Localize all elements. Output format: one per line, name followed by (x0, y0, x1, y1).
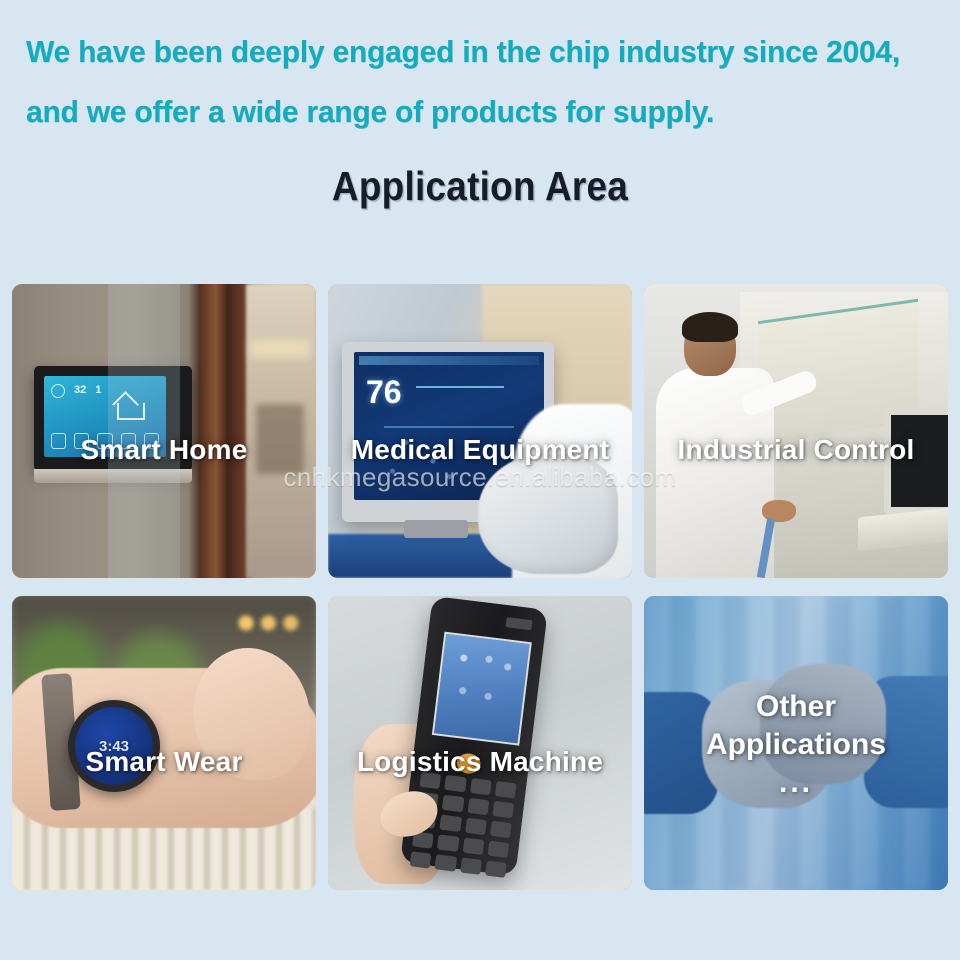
keypad-key (485, 860, 507, 877)
blue-tint-overlay (644, 596, 948, 890)
speaker-grille (506, 617, 533, 630)
headline-block: We have been deeply engaged in the chip … (0, 0, 960, 141)
monitor-status-bar (359, 356, 539, 365)
keypad-key (487, 841, 509, 858)
page-title: Application Area (48, 163, 912, 210)
keypad-key (465, 818, 487, 835)
keypad-key (444, 775, 466, 792)
background-lights (232, 610, 302, 636)
keypad-key (435, 854, 457, 871)
smart-wear-photo: 3:43 (12, 596, 316, 890)
keypad-key (460, 857, 482, 874)
monitor-data-readouts (370, 438, 460, 484)
headline-line-2: and we offer a wide range of products fo… (26, 82, 902, 142)
crt-monitor (884, 408, 948, 514)
keypad-key (462, 838, 484, 855)
background-room (246, 284, 316, 578)
keypad-key (495, 781, 517, 798)
light-icon (51, 433, 66, 449)
fan-icon (74, 433, 89, 449)
smart-home-photo: 32 1 (12, 284, 316, 578)
technician-hair (682, 312, 738, 342)
keypad-key (419, 772, 441, 789)
keypad-key (470, 778, 492, 795)
tile-smart-wear[interactable]: 3:43 Smart Wear (12, 596, 316, 890)
spo2-waveform (384, 426, 514, 428)
application-area-grid: 32 1 Smart Home (12, 284, 948, 890)
keypad-key (492, 801, 514, 818)
watch-face-time: 3:43 (75, 707, 153, 785)
keypad-key (410, 851, 432, 868)
tile-logistics-machine[interactable]: Logistics Machine (328, 596, 632, 890)
medical-equipment-photo: 76 (328, 284, 632, 578)
temperature-value: 32 (74, 384, 86, 396)
day-counter: 1 (95, 384, 101, 396)
industrial-control-photo (644, 284, 948, 578)
smartwatch: 3:43 (68, 700, 160, 792)
headline-line-1: We have been deeply engaged in the chip … (26, 22, 902, 82)
keypad-key (490, 821, 512, 838)
gloved-hand (478, 454, 618, 574)
other-applications-photo (644, 596, 948, 890)
keypad-key (437, 834, 459, 851)
tile-medical-equipment[interactable]: 76 Medical Equipment (328, 284, 632, 578)
tile-smart-home[interactable]: 32 1 Smart Home (12, 284, 316, 578)
logistics-machine-photo (328, 596, 632, 890)
ecg-waveform (416, 386, 504, 388)
heart-rate-value: 76 (366, 374, 402, 411)
door-frame (200, 284, 246, 578)
keypad-key (440, 815, 462, 832)
tile-other-applications[interactable]: Other Applications ... (644, 596, 948, 890)
monitor-stand (404, 520, 468, 538)
keypad-key (442, 795, 464, 812)
keypad-key (467, 798, 489, 815)
weather-widget: 32 1 (51, 384, 101, 398)
scan-button (455, 752, 481, 775)
handheld-terminal (400, 596, 548, 876)
sun-icon (51, 384, 65, 398)
terminal-screen (432, 632, 532, 746)
glass-reflection (108, 284, 180, 578)
tile-industrial-control[interactable]: Industrial Control (644, 284, 948, 578)
